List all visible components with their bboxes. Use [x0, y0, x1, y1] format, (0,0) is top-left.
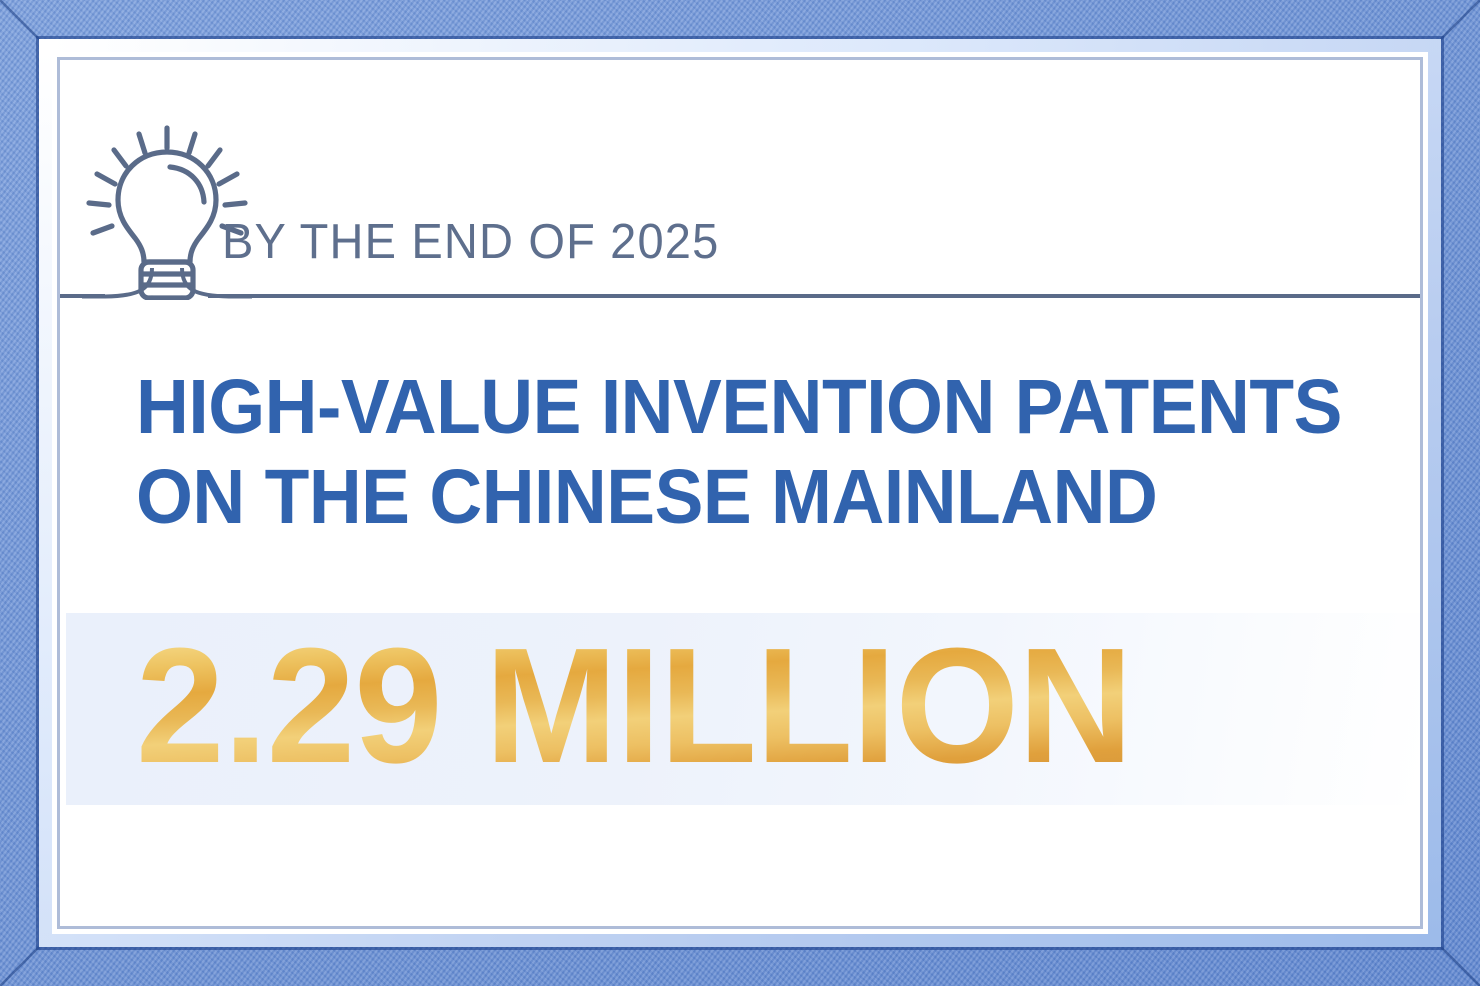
lightbulb-highlight: [170, 167, 204, 202]
header-rule-right: [208, 294, 1420, 298]
page-title-line-1: HIGH-VALUE INVENTION PATENTS: [136, 362, 1314, 452]
kicker-label: BY THE END OF 2025: [222, 218, 719, 267]
header-row: BY THE END OF 2025: [60, 60, 1420, 310]
stat-value: 2.29 MILLION: [136, 624, 1132, 788]
page-title: HIGH-VALUE INVENTION PATENTS ON THE CHIN…: [136, 362, 1314, 542]
poster-content: BY THE END OF 2025 HIGH-VALUE INVENTION …: [60, 60, 1420, 926]
page-title-line-2: ON THE CHINESE MAINLAND: [136, 452, 1314, 542]
header-rule-left: [60, 294, 105, 298]
lightbulb-glass: [118, 152, 216, 262]
